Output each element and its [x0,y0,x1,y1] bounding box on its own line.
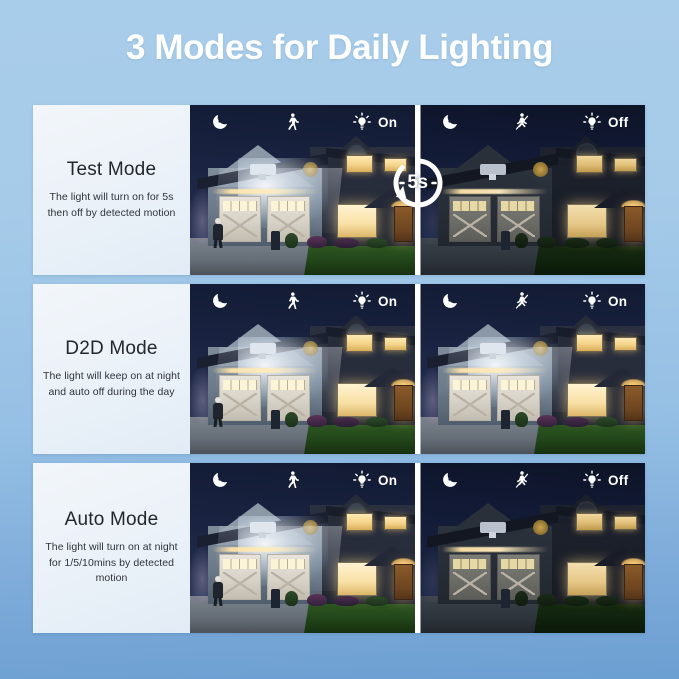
moon-night-icon [210,470,230,490]
upstairs-window [614,158,637,173]
photo-light-on: On [190,105,415,275]
planter [501,589,510,608]
status-icon-bar: On [420,284,645,318]
walking-person-icon [282,112,302,132]
person-leg [213,239,217,248]
garage-window-panes [271,201,305,211]
mode-text-panel: Auto Mode The light will turn on at nigh… [33,463,190,633]
timer-5s-icon: 5s [389,154,447,212]
walking-person [213,397,223,427]
upstairs-window [614,516,637,531]
shrub [334,417,359,427]
mode-description: The light will turn on for 5s then off b… [39,190,184,222]
photo-light-on: On [415,284,645,454]
lightbulb-icon: On [352,470,397,490]
garage-window-panes [501,559,535,569]
modes-card: Test Mode The light will turn on for 5s … [33,105,645,633]
walking-person-icon [282,470,302,490]
moon-night-icon [440,112,460,132]
person-leg [213,418,217,427]
security-light-fixture [250,522,276,533]
security-light-fixture [250,164,276,175]
mode-photos: On [190,284,645,454]
shrub [285,233,299,248]
soffit-lights [442,368,548,373]
garage-cross-trim [453,214,487,237]
shrub [307,415,327,427]
light-state-label: On [378,115,397,130]
shrub [285,591,299,606]
garage-door [219,554,261,600]
mode-title: Auto Mode [65,509,159,531]
upstairs-window [346,513,373,531]
planter [271,410,280,429]
shrub [307,594,327,606]
mode-description: The light will keep on at night and auto… [39,369,184,401]
no-motion-person-icon [512,291,532,311]
bay-window [567,562,607,596]
shrub [515,412,529,427]
bay-window [337,383,377,417]
gable-medallion [533,520,548,535]
shrub [307,236,327,248]
upstairs-window [384,337,407,352]
light-state-label: On [378,473,397,488]
mode-title: Test Mode [67,159,156,181]
house [208,320,415,425]
garage-window-panes [453,380,487,390]
person-head [215,397,221,403]
photo-light-on: On [190,284,415,454]
bay-window [337,204,377,238]
shrub [596,596,619,606]
mode-row: Test Mode The light will turn on for 5s … [33,105,645,275]
house [438,141,645,246]
security-light-fixture [480,164,506,175]
security-light-fixture [480,343,506,354]
mode-row: Auto Mode The light will turn on at nigh… [33,463,645,633]
house [208,141,415,246]
upstairs-window [346,155,373,173]
soffit-lights [442,547,548,552]
photo-light-on: On [190,463,415,633]
shrub [334,596,359,606]
walking-person-icon [282,291,302,311]
garage-cross-trim [453,393,487,416]
person-leg [218,597,222,606]
gable-medallion [533,341,548,356]
no-motion-person-icon [512,112,532,132]
shrub [596,417,619,427]
planter [271,589,280,608]
person-head [215,218,221,224]
mode-description: The light will turn on at night for 1/5/… [39,540,184,588]
garage-window-panes [223,201,257,211]
garage-door [449,375,491,421]
shrub [537,236,557,248]
shrub [564,238,589,248]
shrub [564,417,589,427]
person-body [213,224,223,240]
gable-medallion [533,162,548,177]
upstairs-window [346,334,373,352]
status-icon-bar: On [190,105,415,139]
status-icon-bar: On [190,463,415,497]
timer-label: 5s [389,154,447,212]
bay-window [567,204,607,238]
front-door [624,564,643,600]
walking-person [213,218,223,248]
garage-window-panes [223,559,257,569]
garage-window-panes [501,380,535,390]
bay-window [567,383,607,417]
garage-window-panes [271,380,305,390]
planter [271,231,280,250]
light-state-label: Off [608,115,628,130]
garage-cross-trim [223,393,257,416]
light-state-label: Off [608,473,628,488]
gable-medallion [303,341,318,356]
soffit-lights [212,368,318,373]
no-motion-person-icon [512,470,532,490]
garage-window-panes [453,559,487,569]
person-leg [213,597,217,606]
moon-night-icon [210,112,230,132]
moon-night-icon [440,470,460,490]
house [208,499,415,604]
upstairs-window [576,155,603,173]
soffit-lights [212,547,318,552]
lightbulb-icon: Off [582,470,628,490]
shrub [596,238,619,248]
security-light-fixture [480,522,506,533]
lightbulb-icon: On [352,291,397,311]
moon-night-icon [440,291,460,311]
photo-light-off: Off [415,105,645,275]
garage-door [219,375,261,421]
promo-graphic: 3 Modes for Daily Lighting Test Mode The… [0,0,679,679]
bay-window [337,562,377,596]
status-icon-bar: Off [420,463,645,497]
mode-text-panel: Test Mode The light will turn on for 5s … [33,105,190,275]
photo-light-off: Off [415,463,645,633]
shrub [334,238,359,248]
person-body [213,582,223,598]
lightbulb-icon: On [582,291,627,311]
front-door [624,385,643,421]
shrub [515,233,529,248]
upstairs-window [384,516,407,531]
front-door [624,206,643,242]
planter [501,410,510,429]
garage-window-panes [453,201,487,211]
garage-window-panes [223,380,257,390]
status-icon-bar: On [190,284,415,318]
moon-night-icon [210,291,230,311]
light-state-label: On [608,294,627,309]
status-icon-bar: Off [420,105,645,139]
upstairs-window [576,334,603,352]
shrub [537,415,557,427]
person-head [215,576,221,582]
light-state-label: On [378,294,397,309]
gable-medallion [303,520,318,535]
garage-cross-trim [223,214,257,237]
upstairs-window [614,337,637,352]
garage-door [449,196,491,242]
person-leg [218,418,222,427]
garage-cross-trim [453,572,487,595]
shrub [537,594,557,606]
lightbulb-icon: Off [582,112,628,132]
security-light-fixture [250,343,276,354]
mode-text-panel: D2D Mode The light will keep on at night… [33,284,190,454]
garage-cross-trim [223,572,257,595]
shrub [564,596,589,606]
soffit-lights [442,189,548,194]
person-body [213,403,223,419]
garage-door [449,554,491,600]
garage-window-panes [271,559,305,569]
upstairs-window [576,513,603,531]
mode-title: D2D Mode [65,338,157,360]
shrub [366,596,389,606]
shrub [366,238,389,248]
person-leg [218,239,222,248]
mode-row: D2D Mode The light will keep on at night… [33,284,645,454]
front-door [394,564,413,600]
mode-photos: On [190,105,645,275]
soffit-lights [212,189,318,194]
shrub [515,591,529,606]
shrub [285,412,299,427]
mode-photos: On [190,463,645,633]
house [438,499,645,604]
lightbulb-icon: On [352,112,397,132]
walking-person [213,576,223,606]
garage-door [219,196,261,242]
gable-medallion [303,162,318,177]
planter [501,231,510,250]
house [438,320,645,425]
page-title: 3 Modes for Daily Lighting [0,28,679,68]
shrub [366,417,389,427]
garage-window-panes [501,201,535,211]
front-door [394,385,413,421]
